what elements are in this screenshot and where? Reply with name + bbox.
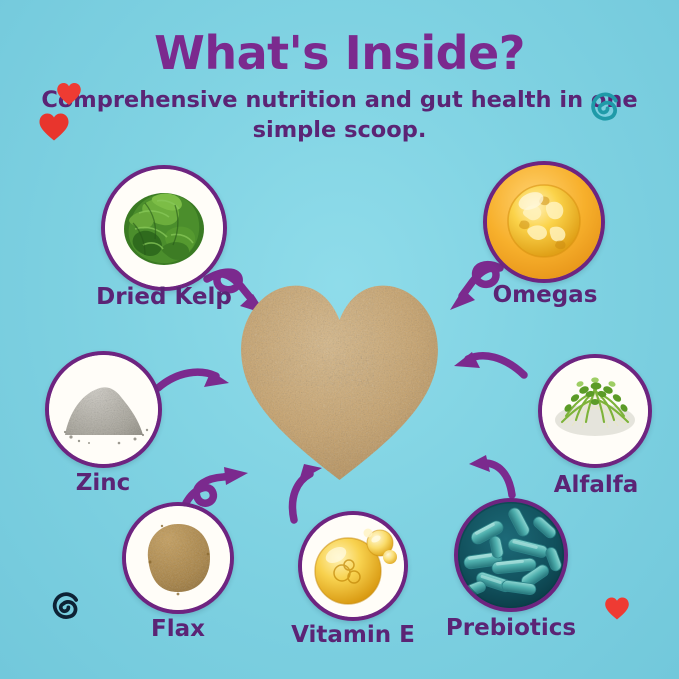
green-kelp-leaves-icon: [105, 169, 223, 287]
prebiotics-label: Prebiotics: [428, 615, 594, 641]
vitamin-e-bubble[interactable]: [298, 511, 408, 621]
alfalfa-sprouts-icon: [542, 358, 648, 464]
bacteria-rods-icon: [458, 502, 564, 608]
zinc-bubble[interactable]: [45, 351, 162, 468]
grey-mineral-powder-icon: [49, 355, 158, 464]
flax-bubble[interactable]: [122, 502, 234, 614]
infographic-canvas: What's Inside? Comprehensive nutrition a…: [0, 0, 679, 679]
dried-kelp-label: Dried Kelp: [77, 284, 251, 310]
alfalfa-bubble[interactable]: [538, 354, 652, 468]
arrow-prebiotics: [469, 455, 512, 495]
arrow-zinc: [158, 371, 229, 388]
zinc-label: Zinc: [20, 470, 186, 496]
golden-oil-gel-icon: [487, 165, 601, 279]
flax-seeds-icon: [126, 506, 230, 610]
omegas-bubble[interactable]: [483, 161, 605, 283]
alfalfa-label: Alfalfa: [512, 472, 679, 498]
dried-kelp-bubble[interactable]: [101, 165, 227, 291]
omegas-label: Omegas: [455, 282, 635, 308]
arrow-alfalfa: [454, 352, 524, 375]
flax-label: Flax: [96, 616, 260, 642]
heart-shaped-powder: [232, 268, 447, 483]
oil-droplet-icon: [302, 515, 404, 617]
prebiotics-bubble[interactable]: [454, 498, 568, 612]
vitamin-e-label: Vitamin E: [262, 622, 444, 648]
